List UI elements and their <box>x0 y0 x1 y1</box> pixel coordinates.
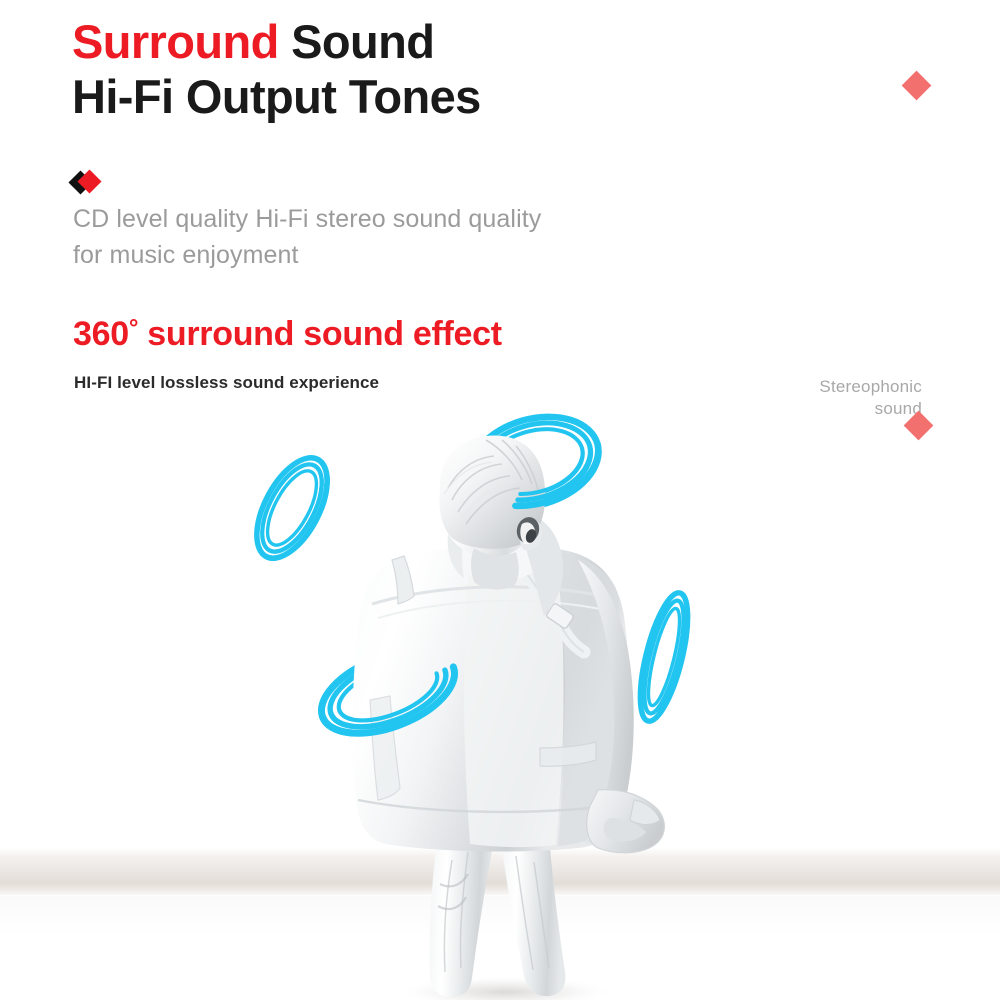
headline-accent-word: Surround <box>72 15 279 68</box>
headline-line1-rest: Sound <box>279 15 435 68</box>
feature-number: 360 <box>73 315 129 353</box>
floor-wall-band <box>0 848 1000 896</box>
earbud-icon <box>514 514 543 546</box>
subtitle-line-1: CD level quality Hi-Fi stereo sound qual… <box>73 205 541 233</box>
top-right-diamond-icon <box>902 71 932 101</box>
subtitle-line-2: for music enjoyment <box>73 238 541 274</box>
bullet-diamond-group <box>72 170 118 196</box>
subtitle-text: CD level quality Hi-Fi stereo sound qual… <box>73 202 541 273</box>
sound-rings-front-layer <box>266 444 609 750</box>
degree-symbol: ° <box>129 315 138 342</box>
illustration-stage <box>0 0 1000 1000</box>
sound-rings-back-layer <box>242 402 697 749</box>
feature-heading-rest: surround sound effect <box>138 315 502 353</box>
product-feature-banner: Surround Sound Hi-Fi Output Tones CD lev… <box>0 0 1000 1000</box>
feature-subheading: HI-FI level lossless sound experience <box>74 373 379 393</box>
feature-heading: 360° surround sound effect <box>73 315 502 354</box>
floor-surface <box>0 896 1000 1000</box>
stereophonic-sound-caption: Stereophonic sound <box>722 376 922 421</box>
caption-line-1: Stereophonic <box>819 377 922 396</box>
page-title: Surround Sound Hi-Fi Output Tones <box>72 14 481 125</box>
mannequin-and-rings-illustration <box>0 0 1000 1000</box>
mannequin-figure <box>353 435 665 997</box>
caption-line-2: sound <box>722 398 922 420</box>
figure-ground-shadow <box>395 976 615 1000</box>
headline-line2: Hi-Fi Output Tones <box>72 69 481 124</box>
